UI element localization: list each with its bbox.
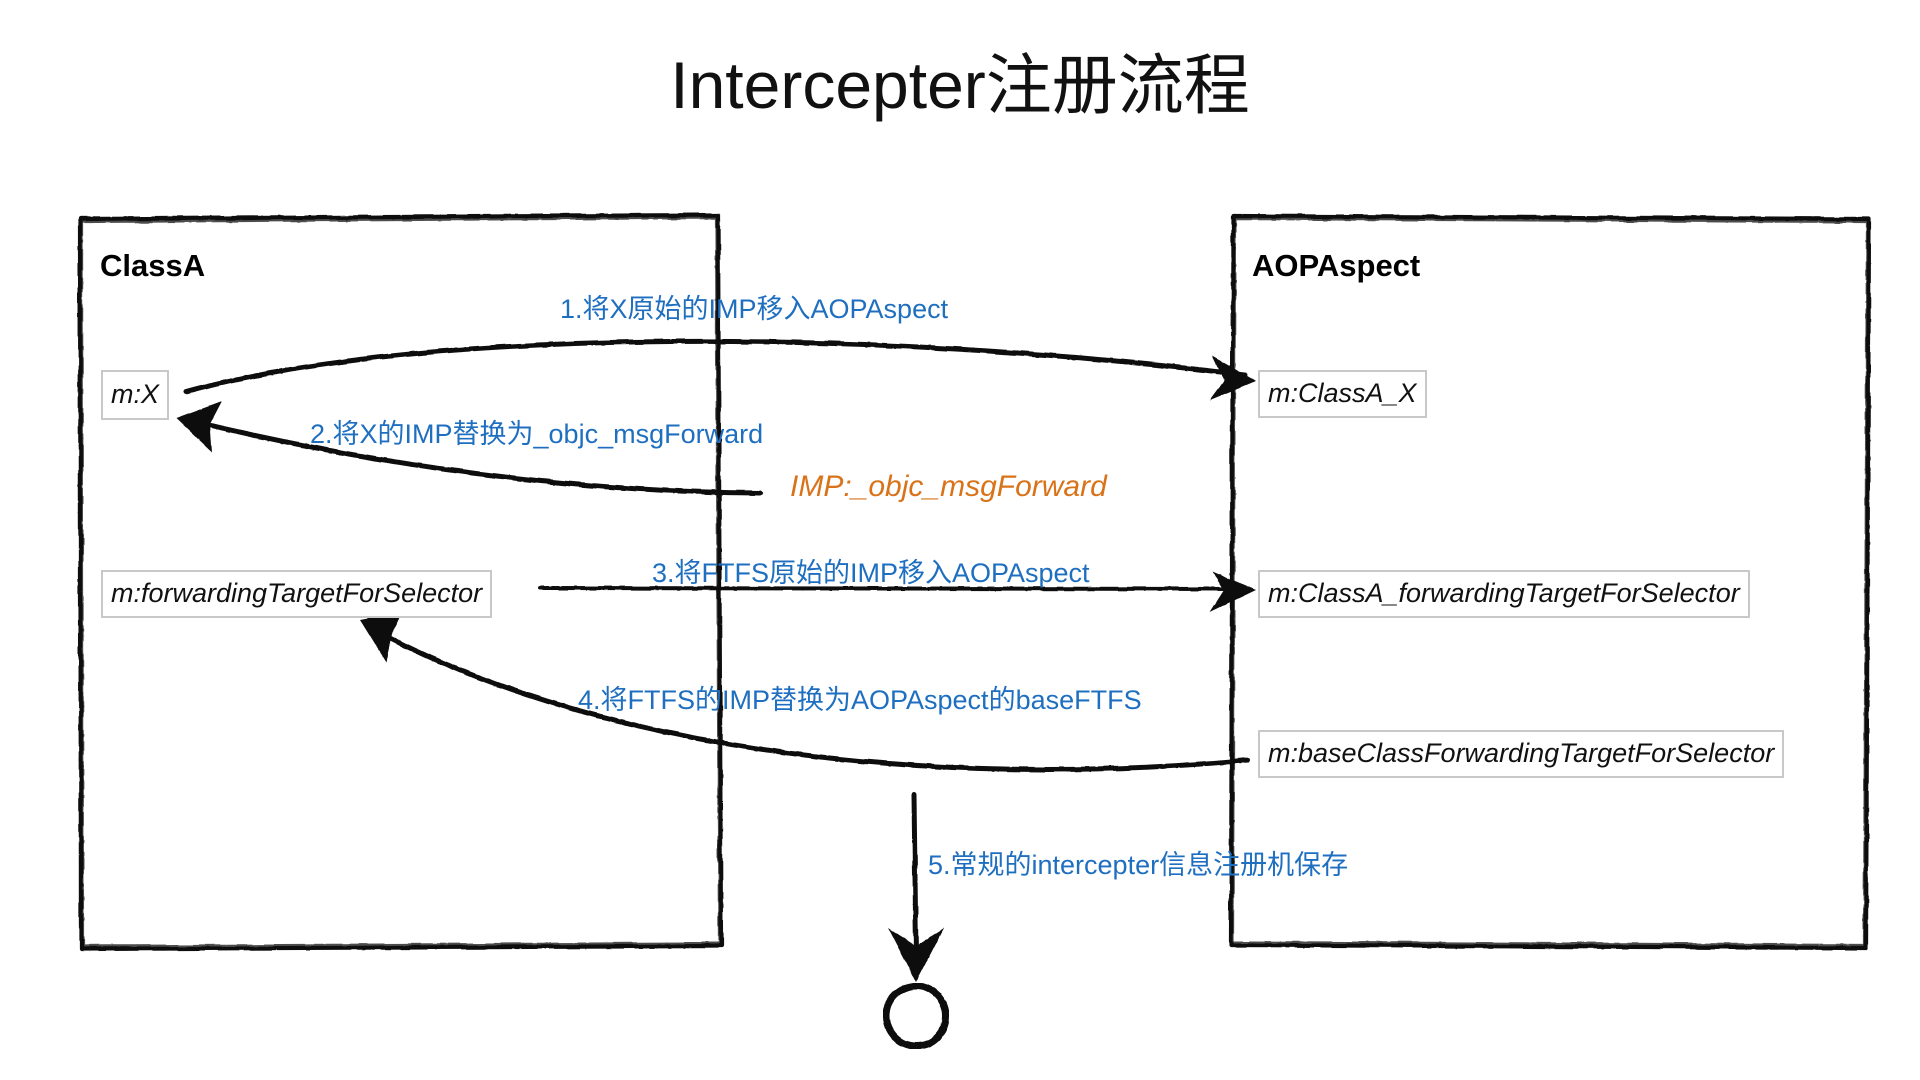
- step-label-3: 3.将FTFS原始的IMP移入AOPAspect: [652, 551, 1090, 590]
- class-title-aopaspect: AOPAspect: [1252, 248, 1420, 284]
- method-box-m-x[interactable]: m:X: [101, 370, 169, 420]
- end-circle: [886, 986, 946, 1046]
- method-box-m-classa-forwardingtargetforselector[interactable]: m:ClassA_forwardingTargetForSelector: [1258, 570, 1750, 618]
- arrow-step5: [888, 795, 944, 982]
- method-box-m-forwardingtargetforselector[interactable]: m:forwardingTargetForSelector: [101, 570, 492, 618]
- sketch-strokes-layer: [0, 0, 1920, 1080]
- step-label-5: 5.常规的intercepter信息注册机保存: [928, 843, 1348, 882]
- step-label-4: 4.将FTFS的IMP替换为AOPAspect的baseFTFS: [578, 678, 1142, 717]
- method-box-m-classa-x[interactable]: m:ClassA_X: [1258, 370, 1427, 418]
- step-label-1: 1.将X原始的IMP移入AOPAspect: [560, 287, 948, 326]
- arrow-step1: [186, 341, 1256, 400]
- diagram-canvas: Intercepter注册流程: [0, 0, 1920, 1080]
- method-box-m-baseclassforwardingtargetforselector[interactable]: m:baseClassForwardingTargetForSelector: [1258, 730, 1784, 778]
- annotation-imp-objc-msgforward: IMP:_objc_msgForward: [790, 470, 1107, 504]
- class-title-classA: ClassA: [100, 248, 205, 284]
- step-label-2: 2.将X的IMP替换为_objc_msgForward: [310, 412, 763, 451]
